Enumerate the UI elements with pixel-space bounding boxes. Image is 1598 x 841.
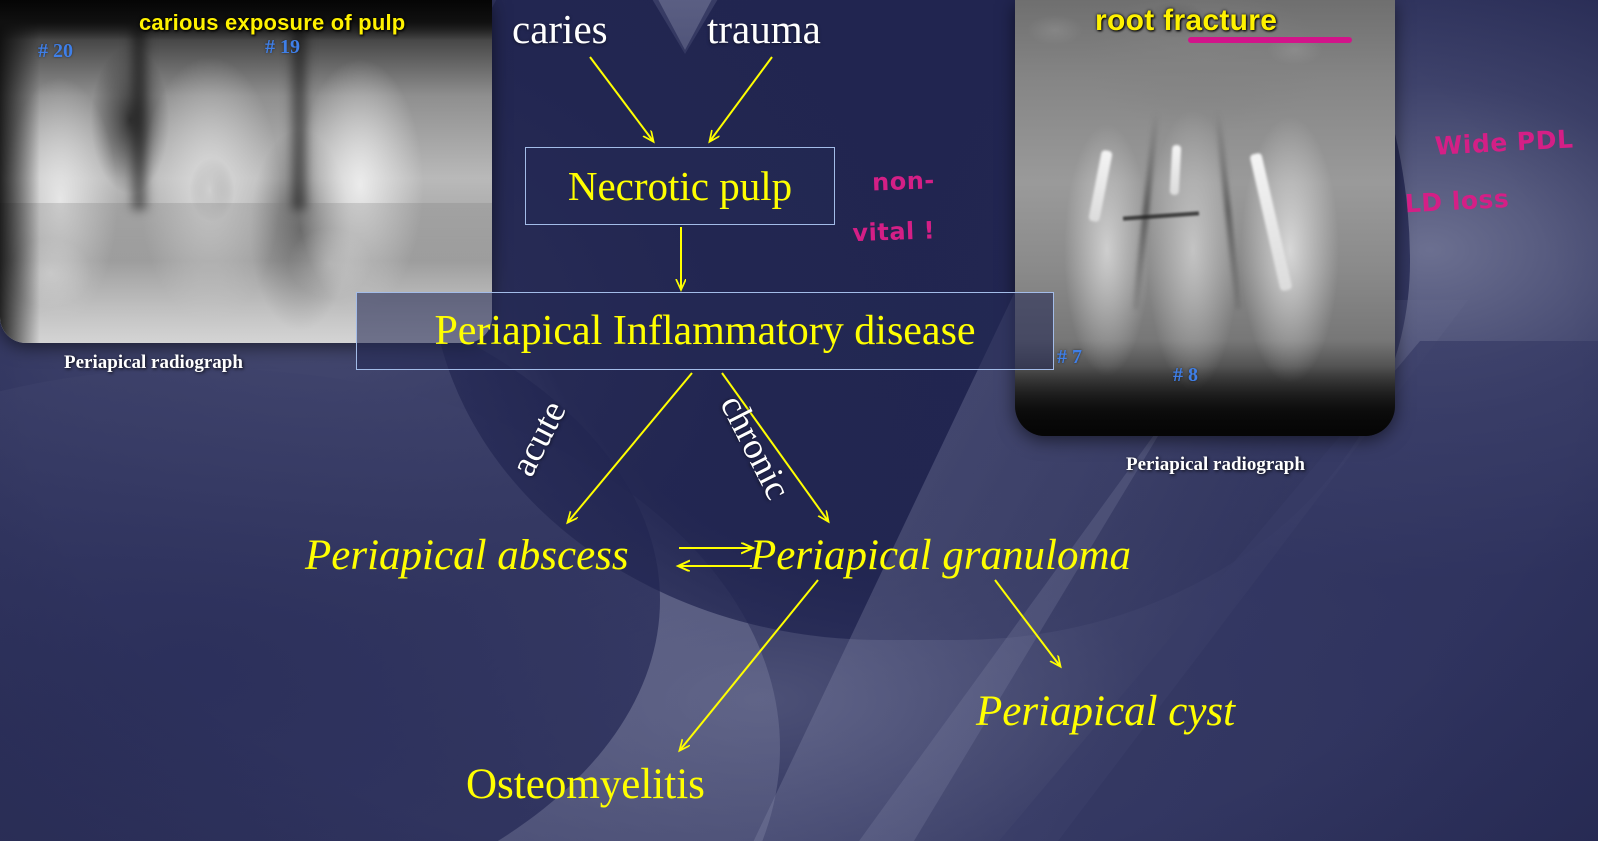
root-fracture-underline bbox=[1188, 37, 1352, 43]
radiograph-right-endodontic-post-3 bbox=[1249, 152, 1292, 291]
slide-canvas: carious exposure of pulp # 20 # 19 Peria… bbox=[0, 0, 1598, 841]
handwritten-widepdl-line2: LD loss bbox=[1404, 182, 1577, 216]
box-necrotic-pulp: Necrotic pulp bbox=[525, 147, 835, 225]
box-necrotic-pulp-label: Necrotic pulp bbox=[568, 166, 792, 207]
carious-exposure-label: carious exposure of pulp bbox=[139, 10, 405, 36]
handwritten-nonvital-line2: vital ! bbox=[852, 218, 937, 245]
radiograph-right-endodontic-post-2 bbox=[1170, 145, 1182, 195]
radiograph-right-caption: Periapical radiograph bbox=[1126, 454, 1305, 476]
radiograph-right-endodontic-post-1 bbox=[1088, 150, 1113, 223]
radiograph-right-bottom-shadow bbox=[1015, 366, 1395, 436]
radiograph-right-root-canal-2 bbox=[1215, 110, 1242, 310]
tooth-number-20-label: # 20 bbox=[38, 40, 73, 63]
handwritten-annotation-wide-pdl: Wide PDL LD loss bbox=[1396, 102, 1579, 267]
handwritten-annotation-nonvital: non- vital ! bbox=[835, 144, 938, 293]
handwritten-widepdl-line1: Wide PDL bbox=[1434, 124, 1574, 160]
term-periapical-cyst: Periapical cyst bbox=[976, 687, 1235, 736]
tooth-number-8-label: # 8 bbox=[1173, 364, 1198, 387]
tooth-number-7-label: # 7 bbox=[1057, 346, 1082, 369]
radiograph-left-interdental-gap-1 bbox=[128, 10, 150, 210]
term-osteomyelitis: Osteomyelitis bbox=[466, 760, 705, 809]
radiograph-right-fracture-line bbox=[1123, 211, 1199, 220]
root-fracture-label: root fracture bbox=[1095, 4, 1277, 38]
box-periapical-inflammatory-disease: Periapical Inflammatory disease bbox=[356, 292, 1054, 370]
term-periapical-abscess: Periapical abscess bbox=[305, 531, 629, 580]
periapical-radiograph-right-image bbox=[1015, 0, 1395, 436]
handwritten-nonvital-line1: non- bbox=[872, 166, 936, 196]
radiograph-left-caption: Periapical radiograph bbox=[64, 352, 243, 374]
tooth-number-19-label: # 19 bbox=[265, 36, 300, 59]
term-trauma: trauma bbox=[707, 5, 821, 53]
term-periapical-granuloma: Periapical granuloma bbox=[750, 531, 1131, 580]
radiograph-right-root-canal-1 bbox=[1133, 110, 1160, 310]
box-periapical-inflammatory-disease-label: Periapical Inflammatory disease bbox=[434, 310, 975, 352]
radiograph-left-edge-shadow bbox=[0, 0, 40, 343]
term-caries: caries bbox=[512, 5, 608, 53]
